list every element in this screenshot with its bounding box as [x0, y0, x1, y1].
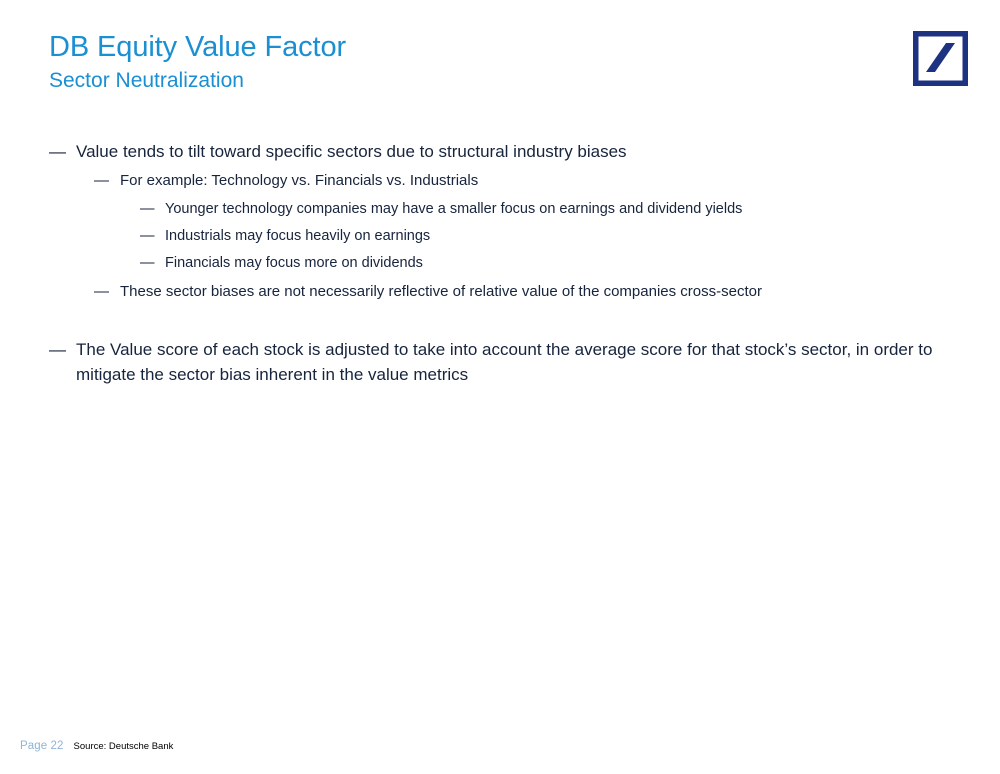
- logo-svg: [913, 31, 968, 86]
- bullet-dash-icon: —: [49, 139, 76, 164]
- bullet-level2: — For example: Technology vs. Financials…: [0, 169, 1000, 193]
- source-note: Source: Deutsche Bank: [74, 741, 174, 752]
- bullet-level3: — Industrials may focus heavily on earni…: [0, 225, 1000, 248]
- bullet-dash-icon: —: [140, 225, 165, 248]
- slide: DB Equity Value Factor Sector Neutraliza…: [0, 0, 1000, 774]
- slide-body: — Value tends to tilt toward specific se…: [0, 139, 1000, 387]
- bullet-level1: — Value tends to tilt toward specific se…: [0, 139, 1000, 164]
- bullet-text: These sector biases are not necessarily …: [120, 280, 950, 304]
- bullet-text: Industrials may focus heavily on earning…: [165, 225, 955, 248]
- section-gap: [0, 304, 1000, 337]
- bullet-dash-icon: —: [49, 337, 76, 362]
- bullet-dash-icon: —: [140, 198, 165, 221]
- bullet-text: Younger technology companies may have a …: [165, 198, 955, 221]
- bullet-level3: — Younger technology companies may have …: [0, 198, 1000, 221]
- bullet-dash-icon: —: [94, 169, 120, 193]
- bullet-text: For example: Technology vs. Financials v…: [120, 169, 950, 193]
- bullet-text: Financials may focus more on dividends: [165, 252, 955, 275]
- slide-header: DB Equity Value Factor Sector Neutraliza…: [49, 30, 869, 94]
- bullet-level1: — The Value score of each stock is adjus…: [0, 337, 1000, 387]
- deutsche-bank-logo-icon: [913, 31, 968, 86]
- bullet-text: Value tends to tilt toward specific sect…: [76, 139, 956, 164]
- bullet-text: The Value score of each stock is adjuste…: [76, 337, 944, 387]
- slide-footer: Page 22 Source: Deutsche Bank: [20, 740, 173, 752]
- page-subtitle: Sector Neutralization: [49, 68, 869, 94]
- bullet-dash-icon: —: [94, 280, 120, 304]
- bullet-level2: — These sector biases are not necessaril…: [0, 280, 1000, 304]
- page-title: DB Equity Value Factor: [49, 30, 869, 64]
- bullet-level3: — Financials may focus more on dividends: [0, 252, 1000, 275]
- page-number: Page 22: [20, 740, 64, 752]
- bullet-dash-icon: —: [140, 252, 165, 275]
